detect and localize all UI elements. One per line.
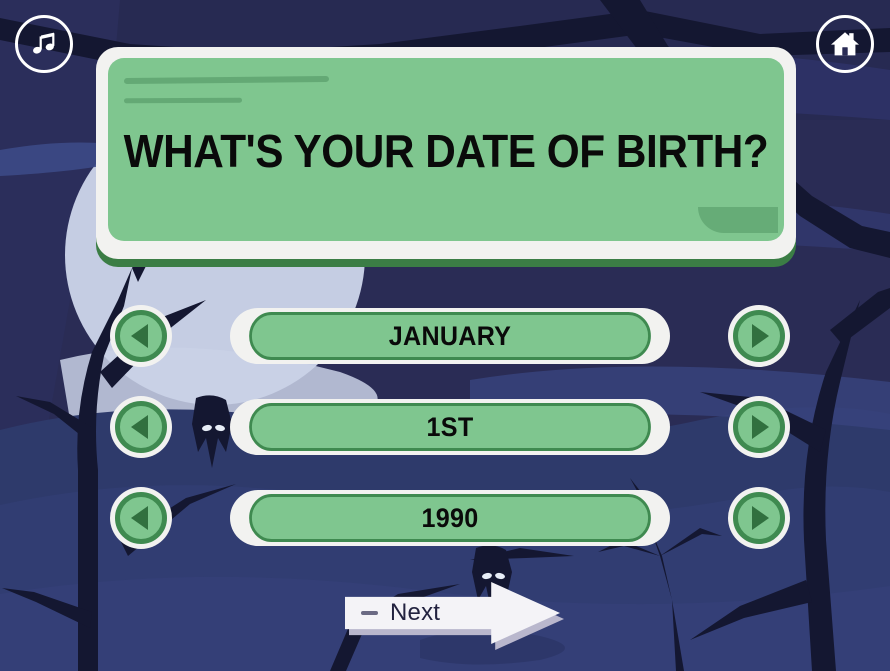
music-note-icon	[29, 29, 59, 59]
chevron-left-icon	[131, 324, 148, 348]
quiz-screen: WHAT'S YOUR DATE OF BIRTH? JANUARY 1ST	[0, 0, 890, 671]
chevron-left-icon	[131, 506, 148, 530]
chevron-right-icon	[752, 415, 769, 439]
home-icon	[829, 28, 861, 60]
year-value: 1990	[249, 494, 651, 542]
arrow-ring	[733, 401, 785, 453]
day-value-field[interactable]: 1ST	[230, 399, 670, 455]
arrow-ring	[733, 310, 785, 362]
chevron-right-icon	[752, 506, 769, 530]
next-button-content: Next	[345, 597, 495, 629]
month-prev-button[interactable]	[110, 305, 172, 367]
year-next-button[interactable]	[728, 487, 790, 549]
question-banner-frame: WHAT'S YOUR DATE OF BIRTH?	[96, 47, 796, 259]
selector-row-year: 1990	[110, 487, 790, 549]
day-prev-button[interactable]	[110, 396, 172, 458]
month-value: JANUARY	[249, 312, 651, 360]
arrow-ring	[733, 492, 785, 544]
arrow-ring	[115, 401, 167, 453]
selector-row-month: JANUARY	[110, 305, 790, 367]
home-button[interactable]	[816, 15, 874, 73]
next-button[interactable]: Next	[345, 582, 560, 650]
arrow-ring	[115, 492, 167, 544]
question-banner: WHAT'S YOUR DATE OF BIRTH?	[96, 47, 796, 259]
question-text: WHAT'S YOUR DATE OF BIRTH?	[135, 58, 757, 241]
month-next-button[interactable]	[728, 305, 790, 367]
chevron-left-icon	[131, 415, 148, 439]
selector-row-day: 1ST	[110, 396, 790, 458]
month-value-field[interactable]: JANUARY	[230, 308, 670, 364]
year-value-field[interactable]: 1990	[230, 490, 670, 546]
question-banner-inner: WHAT'S YOUR DATE OF BIRTH?	[108, 58, 784, 241]
music-toggle-button[interactable]	[15, 15, 73, 73]
arrow-ring	[115, 310, 167, 362]
day-next-button[interactable]	[728, 396, 790, 458]
next-button-label: Next	[390, 599, 440, 627]
dash-icon	[361, 611, 378, 615]
year-prev-button[interactable]	[110, 487, 172, 549]
chevron-right-icon	[752, 324, 769, 348]
day-value: 1ST	[249, 403, 651, 451]
